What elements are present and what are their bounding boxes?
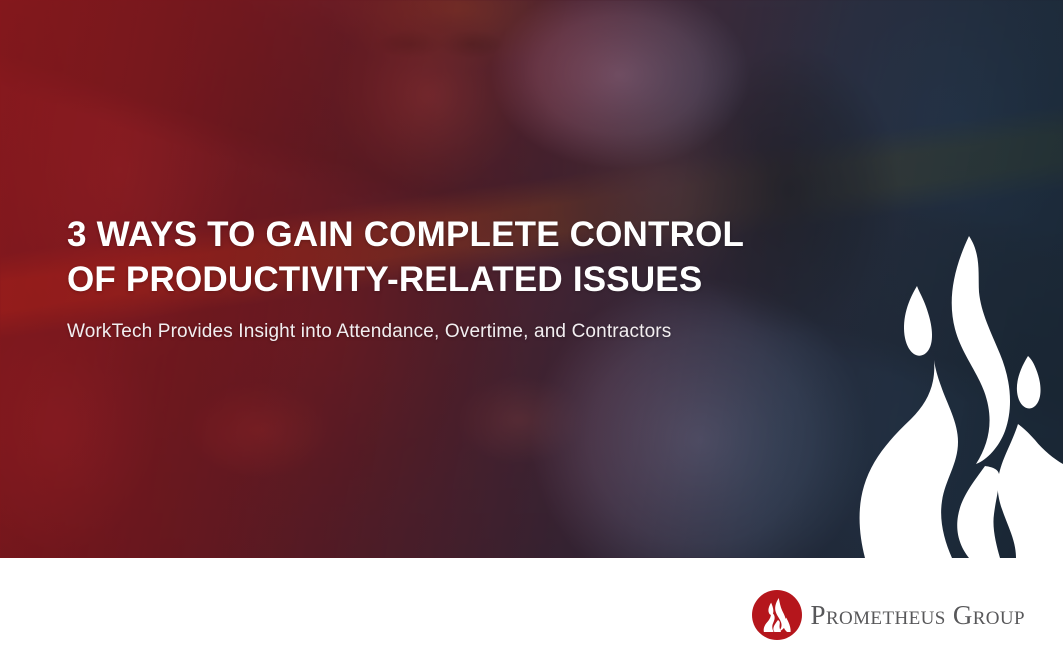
logo-wordmark: Prometheus Group	[811, 600, 1025, 630]
hero-text-block: 3 Ways to Gain Complete Control of Produ…	[67, 212, 827, 345]
prometheus-group-logo[interactable]: Prometheus Group	[752, 590, 1025, 640]
presentation-slide: 3 Ways to Gain Complete Control of Produ…	[0, 0, 1063, 662]
page-subtitle: WorkTech Provides Insight into Attendanc…	[67, 319, 827, 345]
flame-circle-logo-icon	[752, 590, 802, 640]
page-title: 3 Ways to Gain Complete Control of Produ…	[67, 212, 827, 302]
footer-bar: Prometheus Group	[0, 558, 1063, 662]
hero-banner: 3 Ways to Gain Complete Control of Produ…	[0, 0, 1063, 558]
